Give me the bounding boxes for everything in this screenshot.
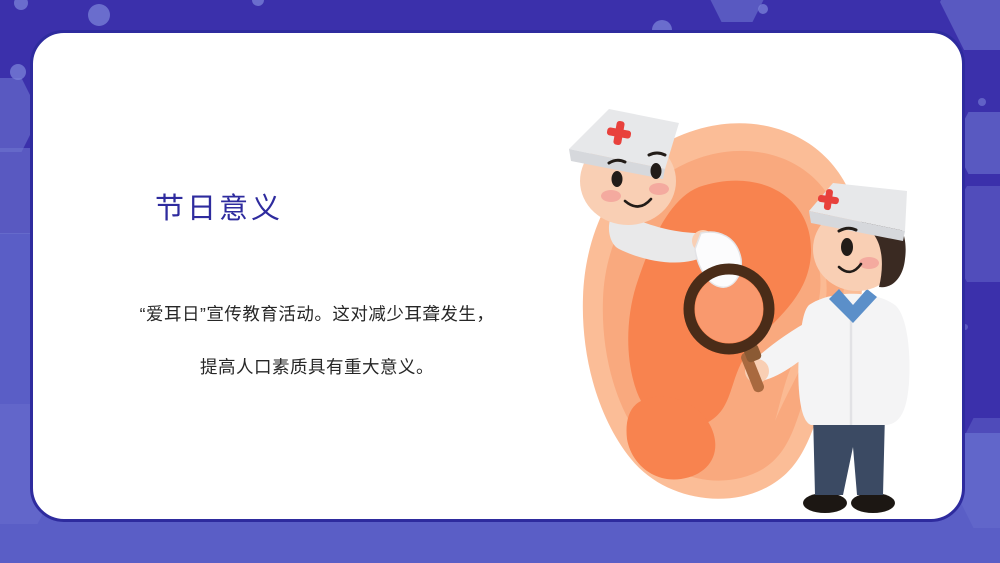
slide-canvas: 节日意义 “爱耳日”宣传教育活动。这对减少耳聋发生，提高人口素质具有重大意义。 [0,0,1000,563]
doctor-bottom-eye [841,238,853,256]
circle-decoration [978,98,986,106]
doctor-bottom-shoe-right [851,493,895,513]
page-title: 节日意义 [155,185,283,227]
doctor-top-eye-right [651,163,662,179]
doctor-bottom-shoe-left [803,493,847,513]
doctor-top-cheek-right [649,183,669,195]
magnifier-lens [695,275,763,343]
circle-decoration [252,0,264,6]
ear-care-illustration [513,83,953,522]
content-card: 节日意义 “爱耳日”宣传教育活动。这对减少耳聋发生，提高人口素质具有重大意义。 [30,30,965,522]
body-paragraph: “爱耳日”宣传教育活动。这对减少耳聋发生，提高人口素质具有重大意义。 [133,288,501,394]
circle-decoration [10,64,26,80]
doctor-top-cheek-left [601,190,621,202]
doctor-bottom-trousers [813,413,885,495]
doctor-top-eye-left [612,171,623,187]
doctor-bottom-cheek [859,257,879,269]
circle-decoration [758,4,768,14]
circle-decoration [14,0,28,10]
circle-decoration [88,4,110,26]
